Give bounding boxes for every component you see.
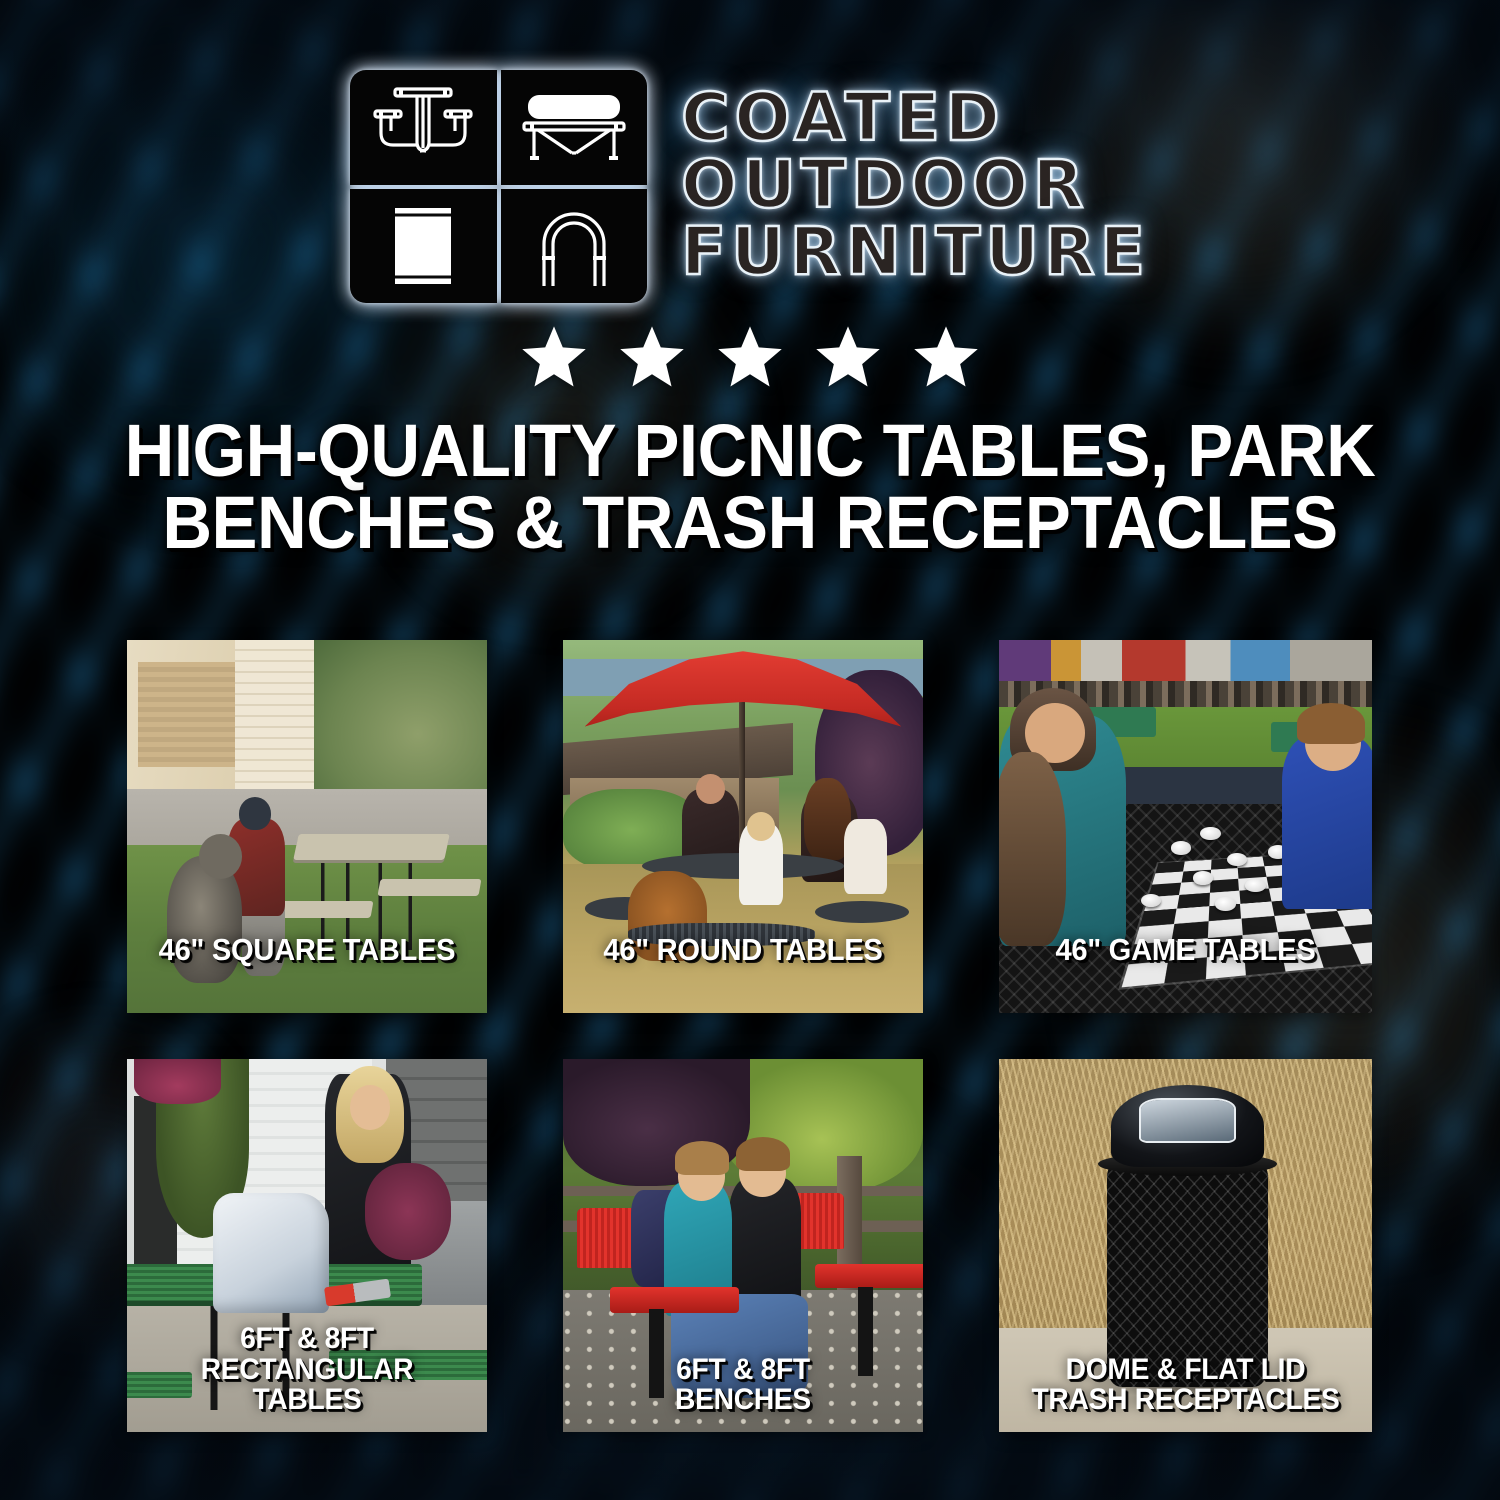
brand-logo-lockup: COATED OUTDOOR FURNITURE <box>0 0 1500 303</box>
product-tile-square-tables[interactable]: 46" SQUARE TABLES <box>127 640 487 1013</box>
caption-line-1: 46" ROUND TABLES <box>603 932 882 967</box>
star-icon <box>617 323 687 391</box>
brand-wordmark: COATED OUTDOOR FURNITURE <box>681 85 1150 289</box>
marketing-banner: COATED OUTDOOR FURNITURE HIGH-QUALITY PI… <box>0 0 1500 1500</box>
bike-rack-icon <box>501 189 648 304</box>
caption-line-1: 46" SQUARE TABLES <box>159 932 456 967</box>
caption-line-2: TRASH RECEPTACLES <box>1018 1385 1354 1416</box>
headline-line-2: BENCHES & TRASH RECEPTACLES <box>53 487 1448 559</box>
caption-line-2: BENCHES <box>581 1385 904 1416</box>
product-caption-benches: 6FT & 8FT BENCHES <box>574 1355 912 1416</box>
product-caption-trash-receptacles: DOME & FLAT LID TRASH RECEPTACLES <box>1010 1355 1361 1416</box>
caption-line-2: RECTANGULAR TABLES <box>145 1355 468 1416</box>
star-rating <box>0 323 1500 391</box>
product-caption-game-tables: 46" GAME TABLES <box>1010 934 1361 966</box>
caption-line-1: DOME & FLAT LID <box>1066 1353 1306 1386</box>
star-icon <box>519 323 589 391</box>
picnic-table-front-icon <box>350 70 497 185</box>
bench-side-icon <box>501 70 648 185</box>
trash-receptacle-icon <box>350 189 497 304</box>
product-category-grid: 46" SQUARE TABLES <box>127 640 1373 1432</box>
brand-word-furniture: FURNITURE <box>681 219 1150 284</box>
caption-line-1: 46" GAME TABLES <box>1055 932 1315 967</box>
brand-word-coated: COATED <box>681 85 1150 150</box>
product-caption-rectangular-tables: 6FT & 8FT RECTANGULAR TABLES <box>138 1324 476 1416</box>
product-caption-square-tables: 46" SQUARE TABLES <box>138 934 476 966</box>
page-title: HIGH-QUALITY PICNIC TABLES, PARK BENCHES… <box>53 415 1448 559</box>
product-caption-round-tables: 46" ROUND TABLES <box>574 934 912 966</box>
brand-word-outdoor: OUTDOOR <box>681 152 1150 217</box>
headline-line-1: HIGH-QUALITY PICNIC TABLES, PARK <box>53 415 1448 487</box>
star-icon <box>813 323 883 391</box>
caption-line-1: 6FT & 8FT <box>240 1322 374 1355</box>
product-tile-benches[interactable]: 6FT & 8FT BENCHES <box>563 1059 923 1432</box>
product-tile-trash-receptacles[interactable]: DOME & FLAT LID TRASH RECEPTACLES <box>999 1059 1372 1432</box>
product-tile-round-tables[interactable]: 46" ROUND TABLES <box>563 640 923 1013</box>
product-tile-rectangular-tables[interactable]: 6FT & 8FT RECTANGULAR TABLES <box>127 1059 487 1432</box>
caption-line-1: 6FT & 8FT <box>676 1353 810 1386</box>
star-icon <box>715 323 785 391</box>
logo-icon-grid <box>350 70 647 303</box>
product-tile-game-tables[interactable]: 46" GAME TABLES <box>999 640 1372 1013</box>
star-icon <box>911 323 981 391</box>
